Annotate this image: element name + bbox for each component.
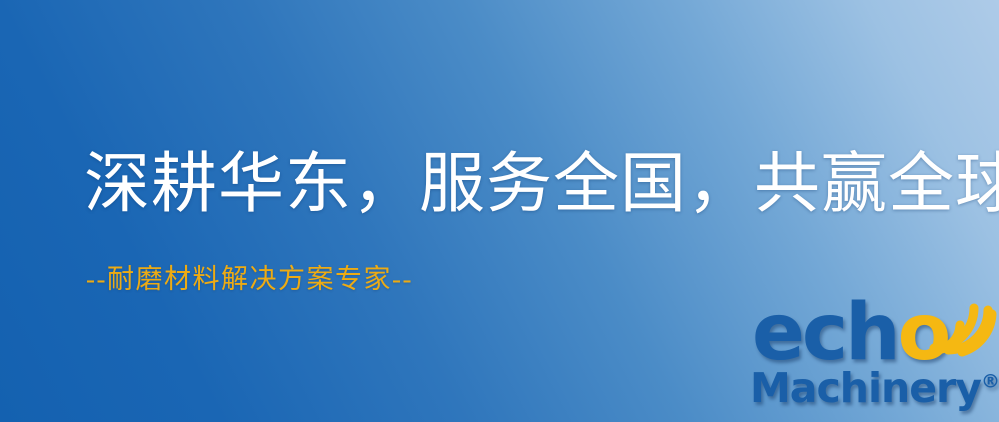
logo-tagline: Machinery® <box>750 368 999 409</box>
signal-waves-icon <box>930 292 996 354</box>
logo-brand-text: echo <box>752 294 948 372</box>
page-subtitle: --耐磨材料解决方案专家-- <box>86 266 413 293</box>
page-title: 深耕华东，服务全国，共赢全球 <box>84 152 999 218</box>
registered-trademark-icon: ® <box>981 370 999 392</box>
logo-tagline-text: Machinery <box>750 364 981 412</box>
hero-banner: 深耕华东，服务全国，共赢全球 --耐磨材料解决方案专家-- echo Machi… <box>0 0 999 422</box>
company-logo: echo Machinery® <box>748 296 999 422</box>
